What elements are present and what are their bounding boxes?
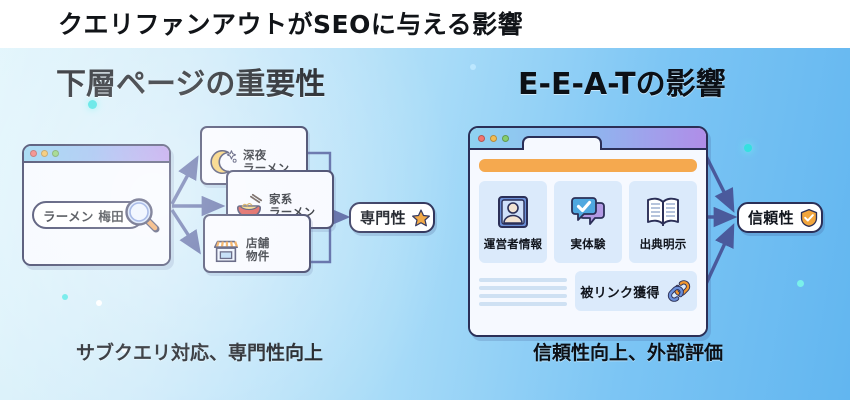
trust-badge[interactable]: 信頼性: [737, 202, 823, 233]
eeat-tile-label: 運営者情報: [484, 236, 543, 252]
sparkle-dot: [797, 280, 804, 287]
sparkle-dot: [96, 300, 102, 306]
open-book-icon: [643, 192, 683, 232]
speech-bubble-check-icon: [568, 192, 608, 232]
sparkle-dot: [744, 144, 752, 152]
expertise-badge[interactable]: 専門性: [349, 202, 435, 233]
eeat-tile-row: 運営者情報 実体験: [479, 181, 697, 263]
eeat-tile-operator-info[interactable]: 運営者情報: [479, 181, 547, 263]
card-titlebar: [228, 172, 332, 184]
trust-badge-label: 信頼性: [748, 207, 794, 228]
card-titlebar: [205, 216, 309, 228]
card-label: 店舗 物件: [246, 237, 269, 263]
left-section-heading: 下層ページの重要性: [56, 70, 325, 100]
left-section-caption: サブクエリ対応、専門性向上: [76, 344, 323, 363]
traffic-light-minimize-icon[interactable]: [41, 150, 48, 157]
sparkle-dot: [470, 64, 476, 70]
traffic-light-maximize-icon[interactable]: [502, 135, 509, 142]
window-body: 運営者情報 実体験: [470, 150, 706, 335]
infographic-root: クエリファンアウトがSEOに与える影響 下層ページの重要性 E-E-A-Tの影響…: [0, 0, 850, 400]
traffic-light-close-icon[interactable]: [478, 135, 485, 142]
content-panel: 下層ページの重要性 E-E-A-Tの影響 サブクエリ対応、専門性向上 信頼性向上…: [0, 48, 850, 400]
right-section-heading: E-E-A-Tの影響: [518, 70, 726, 100]
storefront-icon: [211, 235, 241, 265]
page-title: クエリファンアウトがSEOに与える影響: [58, 12, 523, 37]
eeat-tile-source-citation[interactable]: 出典明示: [629, 181, 697, 263]
header-banner: [479, 159, 697, 172]
placeholder-text-lines: [479, 276, 567, 306]
shield-check-icon: [799, 208, 819, 228]
traffic-light-maximize-icon[interactable]: [52, 150, 59, 157]
search-browser-window[interactable]: ラーメン 梅田: [22, 144, 171, 266]
eeat-tile-experience[interactable]: 実体験: [554, 181, 622, 263]
sparkle-dot: [62, 294, 68, 300]
eeat-tile-label: 出典明示: [640, 236, 687, 252]
window-body: ラーメン 梅田: [24, 163, 169, 266]
search-query-text: ラーメン 梅田: [43, 206, 124, 225]
title-band: クエリファンアウトがSEOに与える影響: [0, 0, 850, 48]
magnifying-glass-icon[interactable]: [121, 194, 163, 236]
result-card-storefront[interactable]: 店舗 物件: [203, 214, 311, 273]
chain-link-icon: [666, 278, 692, 304]
eeat-tile-label: 被リンク獲得: [580, 282, 659, 301]
card-titlebar: [202, 128, 306, 140]
window-titlebar: [24, 146, 169, 163]
browser-tab[interactable]: [522, 136, 602, 150]
card-content: 店舗 物件: [205, 228, 309, 271]
eeat-bottom-row: 被リンク獲得: [479, 271, 697, 311]
star-icon: [411, 208, 431, 228]
person-card-icon: [493, 192, 533, 232]
eeat-browser-window[interactable]: 運営者情報 実体験: [468, 126, 708, 337]
eeat-tile-backlinks[interactable]: 被リンク獲得: [575, 271, 697, 311]
eeat-tile-label: 実体験: [570, 236, 605, 252]
right-section-caption: 信頼性向上、外部評価: [533, 344, 723, 363]
traffic-light-close-icon[interactable]: [30, 150, 37, 157]
traffic-light-minimize-icon[interactable]: [490, 135, 497, 142]
window-titlebar: [470, 128, 706, 150]
expertise-badge-label: 専門性: [360, 207, 406, 228]
